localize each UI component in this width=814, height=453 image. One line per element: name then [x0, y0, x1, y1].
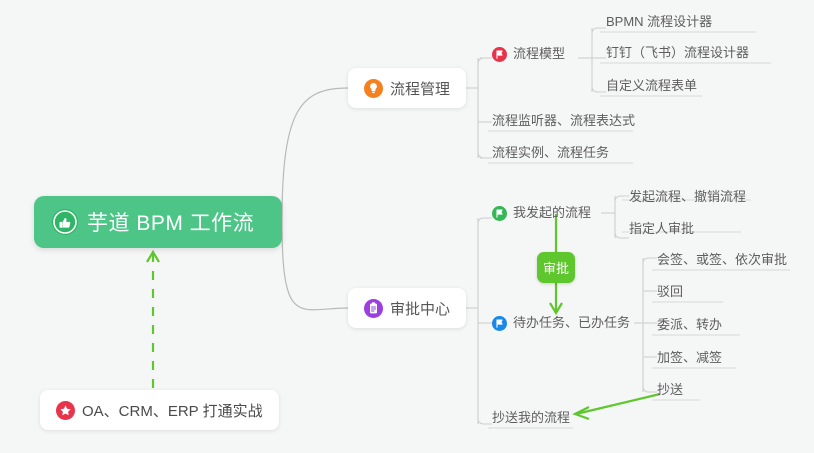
flag-icon — [492, 316, 507, 331]
node-bpmn-designer-label: BPMN 流程设计器 — [606, 11, 712, 33]
node-bpmn-designer[interactable]: BPMN 流程设计器 — [606, 11, 712, 33]
node-my-started-flow-label: 我发起的流程 — [513, 202, 591, 224]
node-my-started-flow[interactable]: 我发起的流程 — [492, 202, 591, 224]
node-cc[interactable]: 抄送 — [657, 379, 683, 401]
node-reject[interactable]: 驳回 — [657, 281, 683, 303]
thumbs-up-icon — [52, 209, 78, 235]
branch-approval-center-label: 审批中心 — [390, 298, 450, 319]
node-dingtalk-designer-label: 钉钉（飞书）流程设计器 — [606, 42, 749, 64]
node-start-cancel-flow[interactable]: 发起流程、撤销流程 — [629, 186, 746, 208]
root-node-label: 芋道 BPM 工作流 — [87, 207, 254, 237]
node-delegate-transfer[interactable]: 委派、转办 — [657, 314, 722, 336]
node-todo-done-task[interactable]: 待办任务、已办任务 — [492, 312, 630, 334]
node-add-remove-sign[interactable]: 加签、减签 — [657, 347, 722, 369]
flag-icon — [492, 206, 507, 221]
approve-badge-label: 审批 — [543, 258, 569, 277]
node-flow-listener[interactable]: 流程监听器、流程表达式 — [492, 110, 635, 132]
node-assignee-approval[interactable]: 指定人审批 — [629, 218, 694, 240]
lightbulb-icon — [364, 79, 383, 98]
node-assignee-approval-label: 指定人审批 — [629, 218, 694, 240]
clipboard-icon — [364, 299, 383, 318]
node-custom-form[interactable]: 自定义流程表单 — [606, 75, 697, 97]
node-flow-listener-label: 流程监听器、流程表达式 — [492, 110, 635, 132]
node-countersign-label: 会签、或签、依次审批 — [657, 249, 787, 271]
node-start-cancel-flow-label: 发起流程、撤销流程 — [629, 186, 746, 208]
node-cc-my-flow[interactable]: 抄送我的流程 — [492, 407, 570, 429]
node-cc-my-flow-label: 抄送我的流程 — [492, 407, 570, 429]
root-node[interactable]: 芋道 BPM 工作流 — [34, 196, 282, 248]
node-reject-label: 驳回 — [657, 281, 683, 303]
node-dingtalk-designer[interactable]: 钉钉（飞书）流程设计器 — [606, 42, 749, 64]
node-cc-label: 抄送 — [657, 379, 683, 401]
node-countersign[interactable]: 会签、或签、依次审批 — [657, 249, 787, 271]
node-flow-instance[interactable]: 流程实例、流程任务 — [492, 142, 609, 164]
node-oa-crm-erp[interactable]: OA、CRM、ERP 打通实战 — [40, 390, 279, 430]
node-delegate-transfer-label: 委派、转办 — [657, 314, 722, 336]
branch-approval-center[interactable]: 审批中心 — [348, 288, 466, 328]
flag-icon — [492, 47, 507, 62]
node-flow-model[interactable]: 流程模型 — [492, 43, 565, 65]
node-flow-instance-label: 流程实例、流程任务 — [492, 142, 609, 164]
branch-flow-management[interactable]: 流程管理 — [348, 68, 466, 108]
node-custom-form-label: 自定义流程表单 — [606, 75, 697, 97]
branch-flow-management-label: 流程管理 — [390, 78, 450, 99]
node-todo-done-task-label: 待办任务、已办任务 — [513, 312, 630, 334]
node-oa-crm-erp-label: OA、CRM、ERP 打通实战 — [82, 400, 263, 421]
node-flow-model-label: 流程模型 — [513, 43, 565, 65]
mindmap-canvas: 芋道 BPM 工作流 流程管理 流程模型 BPMN 流程设计器 钉钉（飞书）流程… — [0, 0, 814, 453]
star-icon — [56, 401, 75, 420]
node-add-remove-sign-label: 加签、减签 — [657, 347, 722, 369]
approve-badge: 审批 — [537, 252, 575, 283]
